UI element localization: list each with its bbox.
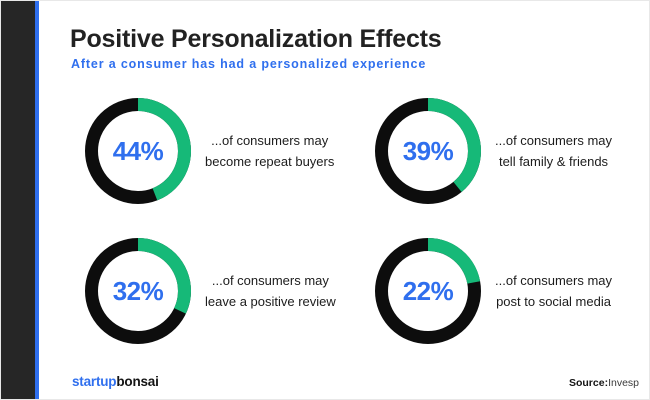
source-credit-label: Source: (569, 377, 608, 389)
stat-block: 44% ...of consumers may become repeat bu… (85, 98, 334, 204)
stat-description: ...of consumers may leave a positive rev… (205, 270, 336, 312)
brand-logo: startupbonsai (72, 374, 159, 389)
stat-description: ...of consumers may tell family & friend… (495, 130, 612, 172)
stat-description-line1: ...of consumers may (495, 270, 612, 291)
stat-description: ...of consumers may become repeat buyers (205, 130, 334, 172)
stat-description-line1: ...of consumers may (205, 130, 334, 151)
donut-chart: 44% (85, 98, 191, 204)
stat-description: ...of consumers may post to social media (495, 270, 612, 312)
page-title: Positive Personalization Effects (70, 25, 442, 54)
stat-block: 39% ...of consumers may tell family & fr… (375, 98, 612, 204)
left-dark-band (1, 1, 35, 400)
source-credit: Source:Invesp (569, 377, 639, 389)
brand-logo-part-two: bonsai (116, 374, 158, 389)
page-subtitle: After a consumer has had a personalized … (71, 57, 426, 71)
donut-percent-label: 32% (85, 238, 191, 344)
donut-chart: 22% (375, 238, 481, 344)
donut-chart: 32% (85, 238, 191, 344)
donut-percent-label: 44% (85, 98, 191, 204)
donut-chart: 39% (375, 98, 481, 204)
stat-description-line1: ...of consumers may (205, 270, 336, 291)
brand-logo-part-one: startup (72, 374, 116, 389)
infographic-canvas: Positive Personalization Effects After a… (0, 0, 650, 400)
source-credit-value: Invesp (608, 377, 639, 389)
stat-block: 32% ...of consumers may leave a positive… (85, 238, 336, 344)
donut-percent-label: 39% (375, 98, 481, 204)
stat-description-line2: leave a positive review (205, 291, 336, 312)
stat-description-line2: become repeat buyers (205, 151, 334, 172)
stat-block: 22% ...of consumers may post to social m… (375, 238, 612, 344)
donut-percent-label: 22% (375, 238, 481, 344)
stat-description-line1: ...of consumers may (495, 130, 612, 151)
stat-description-line2: post to social media (495, 291, 612, 312)
stat-description-line2: tell family & friends (495, 151, 612, 172)
content-area: Positive Personalization Effects After a… (39, 1, 650, 400)
